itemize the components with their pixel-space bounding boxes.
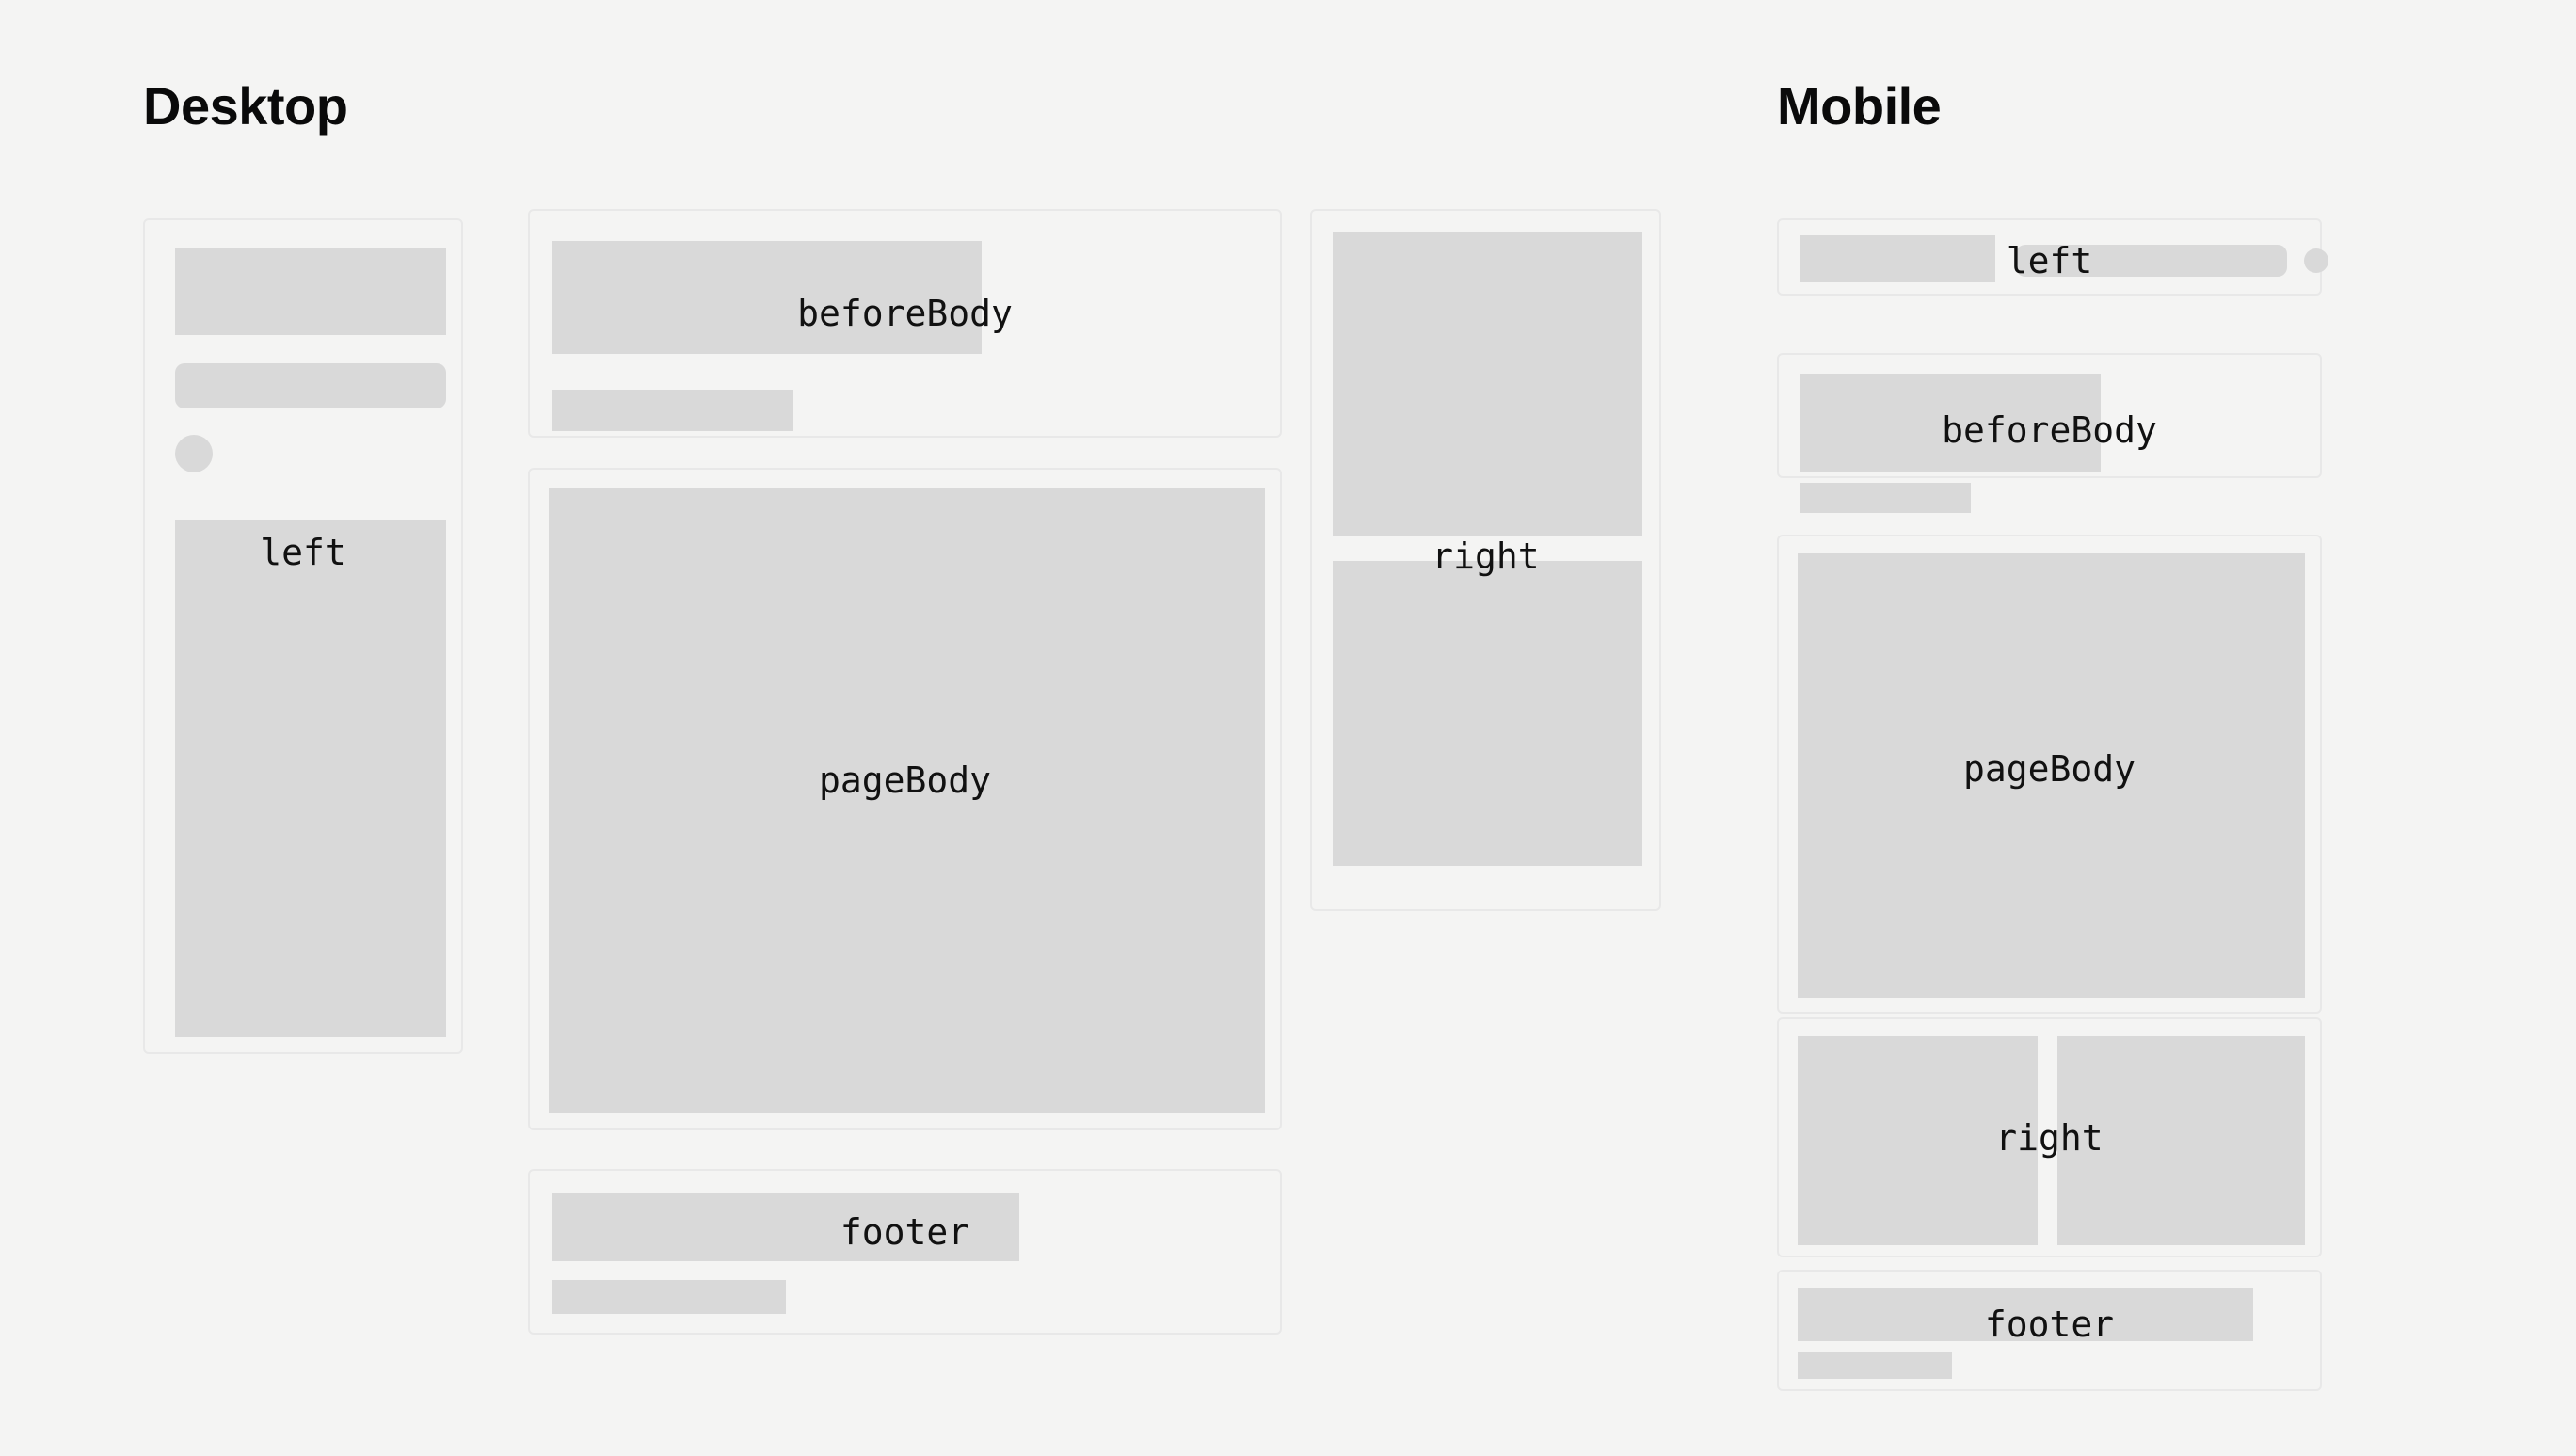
placeholder-block: [1798, 1036, 2038, 1245]
placeholder-block: [175, 520, 446, 1037]
placeholder-block: [1333, 561, 1642, 866]
page-title-desktop: Desktop: [143, 80, 347, 133]
desktop-beforebody-region-content: [530, 211, 1280, 436]
mobile-footer-region-panel: [1777, 1270, 2322, 1391]
desktop-pagebody-region-content: [530, 470, 1280, 1128]
placeholder-block: [1800, 235, 1995, 282]
placeholder-dot: [175, 435, 213, 472]
placeholder-block: [2057, 1036, 2305, 1245]
mobile-pagebody-region-panel: [1777, 535, 2322, 1014]
desktop-footer-region-panel: [528, 1169, 1282, 1335]
placeholder-block: [1798, 1352, 1952, 1379]
placeholder-block: [1800, 483, 1971, 513]
placeholder-block: [552, 390, 793, 431]
placeholder-block: [552, 1193, 1019, 1261]
placeholder-block: [175, 363, 446, 408]
placeholder-block: [549, 488, 1265, 1113]
placeholder-block: [1798, 1288, 2253, 1341]
mobile-pagebody-region-content: [1779, 536, 2320, 1012]
desktop-left-region-content: [145, 220, 461, 1052]
desktop-left-region-panel: [143, 218, 463, 1054]
desktop-beforebody-region-panel: [528, 209, 1282, 438]
page-title-mobile: Mobile: [1777, 80, 1941, 133]
desktop-pagebody-region-panel: [528, 468, 1282, 1130]
placeholder-block: [552, 1280, 786, 1314]
placeholder-block: [1333, 232, 1642, 536]
placeholder-block: [175, 248, 446, 335]
mobile-left-region-panel: [1777, 218, 2322, 296]
mobile-left-region-content: [1779, 220, 2320, 294]
mobile-beforebody-region-panel: [1777, 353, 2322, 478]
placeholder-block: [552, 241, 982, 354]
mobile-beforebody-region-content: [1779, 355, 2320, 476]
desktop-footer-region-content: [530, 1171, 1280, 1333]
desktop-right-region-panel: [1310, 209, 1661, 911]
placeholder-dot: [2304, 248, 2328, 273]
placeholder-block: [1798, 553, 2305, 998]
mobile-footer-region-content: [1779, 1272, 2320, 1389]
desktop-right-region-content: [1312, 211, 1659, 909]
placeholder-block: [2016, 245, 2287, 277]
placeholder-block: [1800, 374, 2101, 472]
mobile-right-region-content: [1779, 1019, 2320, 1256]
mobile-right-region-panel: [1777, 1017, 2322, 1257]
